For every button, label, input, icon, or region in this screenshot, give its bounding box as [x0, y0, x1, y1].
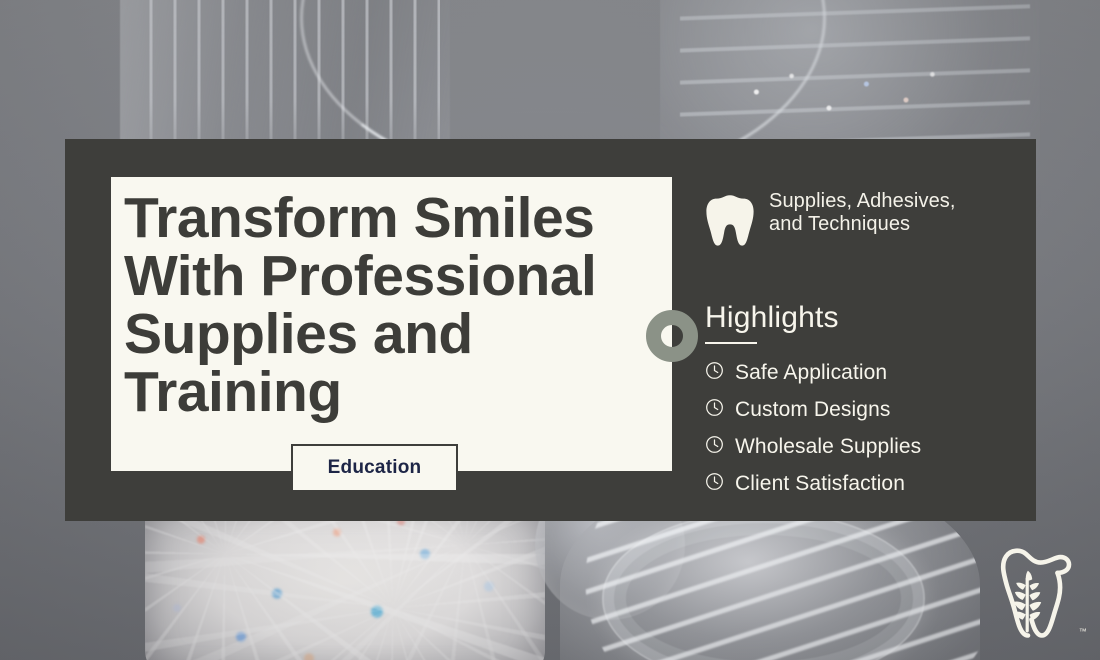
tooth-leaf-logo-icon [972, 536, 1084, 648]
brand-tagline: Supplies, Adhesives, and Techniques [769, 190, 956, 236]
list-item-label: Custom Designs [735, 398, 890, 422]
highlights-heading: Highlights [705, 301, 1015, 335]
banner-stage: Transform Smiles With Professional Suppl… [0, 0, 1100, 660]
ring-decoration-icon [646, 310, 698, 362]
highlights-list: Safe Application Custom Designs [705, 361, 1015, 496]
list-item: Client Satisfaction [705, 472, 1015, 496]
list-item: Custom Designs [705, 398, 1015, 422]
highlights-heading-rule [705, 342, 757, 344]
status-badge-label: Education [328, 457, 422, 479]
clock-icon [705, 398, 724, 422]
page-title: Transform Smiles With Professional Suppl… [124, 189, 664, 421]
list-item: Wholesale Supplies [705, 435, 1015, 459]
clock-icon [705, 361, 724, 385]
clock-icon [705, 435, 724, 459]
trademark-symbol: ™ [1079, 627, 1087, 636]
list-item: Safe Application [705, 361, 1015, 385]
list-item-label: Safe Application [735, 361, 887, 385]
brand-row: Supplies, Adhesives, and Techniques [705, 190, 1015, 253]
headline-card: Transform Smiles With Professional Suppl… [111, 177, 672, 471]
highlights-column: Supplies, Adhesives, and Techniques High… [705, 190, 1015, 509]
clock-icon [705, 472, 724, 496]
list-item-label: Wholesale Supplies [735, 435, 921, 459]
list-item-label: Client Satisfaction [735, 472, 905, 496]
tooth-icon [705, 192, 755, 253]
status-badge: Education [291, 444, 458, 492]
content-panel: Transform Smiles With Professional Suppl… [65, 139, 1036, 521]
